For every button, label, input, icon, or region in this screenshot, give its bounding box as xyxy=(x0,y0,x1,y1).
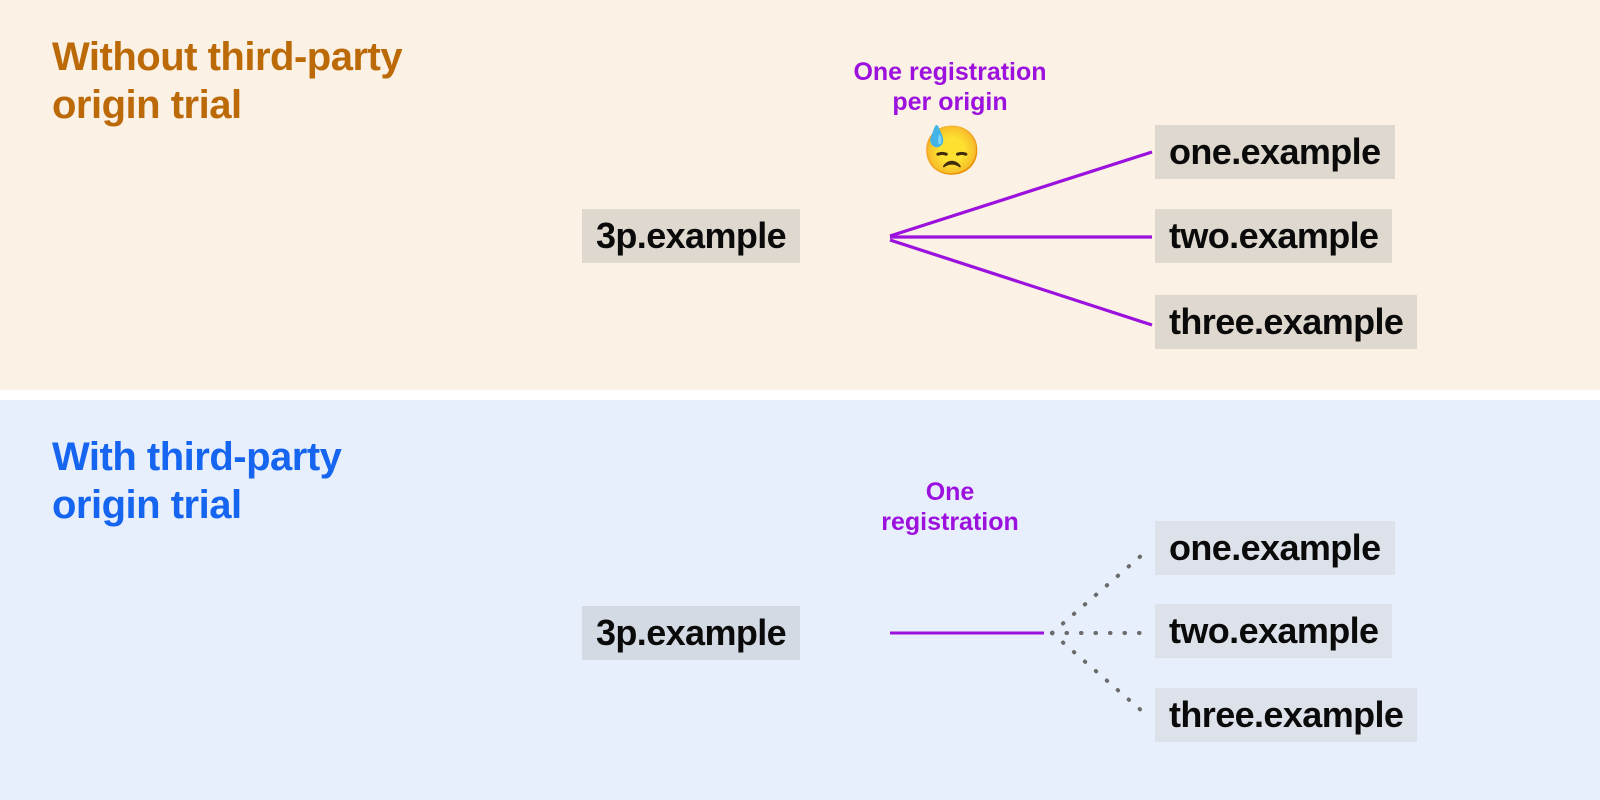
annotation-one-registration: One registration xyxy=(840,478,1060,537)
panel-without-title: Without third-party origin trial xyxy=(52,33,402,129)
origin-chip-two-without[interactable]: two.example xyxy=(1155,209,1392,263)
diagram-canvas: Without third-party origin trial One reg… xyxy=(0,0,1600,800)
origin-chip-three-without[interactable]: three.example xyxy=(1155,295,1417,349)
origin-chip-one-without[interactable]: one.example xyxy=(1155,125,1395,179)
origin-chip-one-with[interactable]: one.example xyxy=(1155,521,1395,575)
origin-chip-source-without[interactable]: 3p.example xyxy=(582,209,800,263)
panel-with-title: With third-party origin trial xyxy=(52,433,341,529)
origin-chip-two-with[interactable]: two.example xyxy=(1155,604,1392,658)
annotation-one-registration-per-origin: One registration per origin xyxy=(795,58,1105,117)
origin-chip-three-with[interactable]: three.example xyxy=(1155,688,1417,742)
downcast-face-with-sweat-icon: 😓 xyxy=(922,128,982,176)
origin-chip-source-with[interactable]: 3p.example xyxy=(582,606,800,660)
